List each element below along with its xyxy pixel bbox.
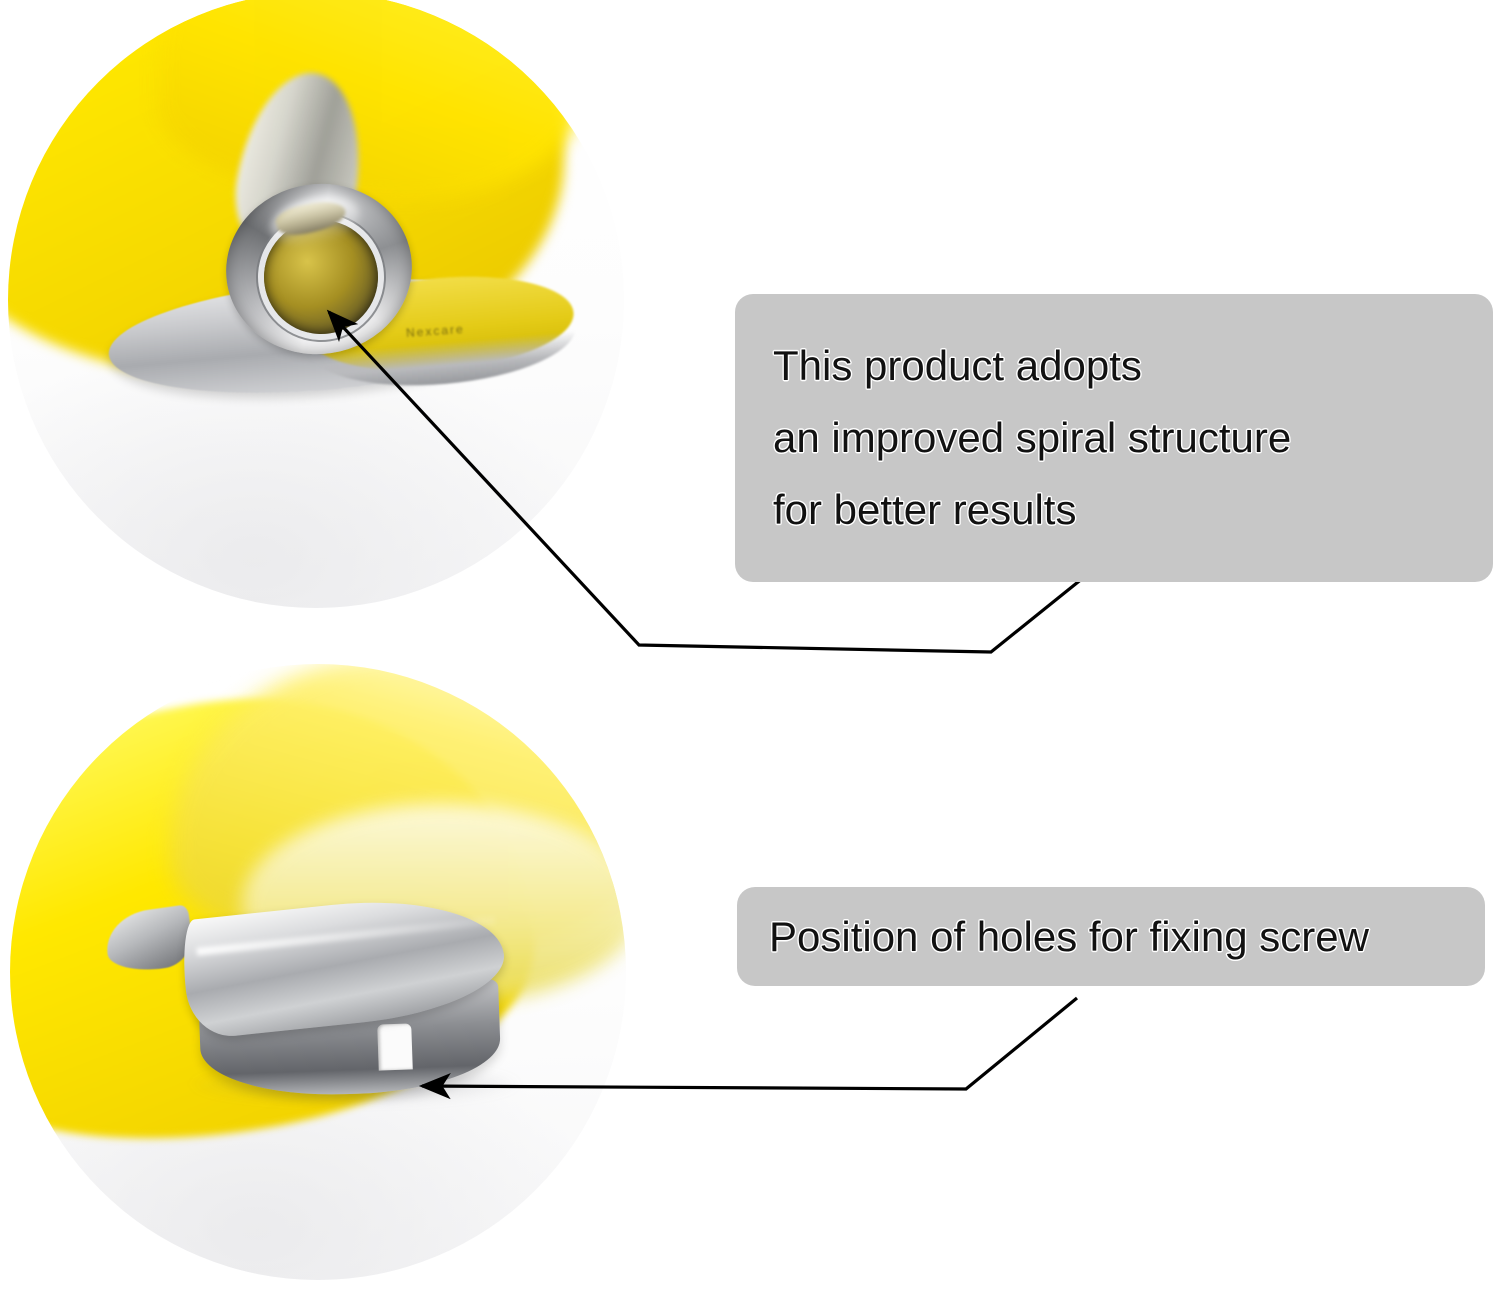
spiral-structure-callout[interactable]: This product adopts an improved spiral s…	[735, 294, 1493, 582]
photo-top-content: Nexcare	[8, 0, 624, 608]
callout-bottom-line-1: Position of holes for fixing screw	[769, 887, 1485, 986]
callout-top-line-2: an improved spiral structure	[773, 402, 1493, 474]
fixing-screw-callout[interactable]: Position of holes for fixing screw	[737, 887, 1485, 986]
screw-hole-notch	[377, 1023, 413, 1070]
photo-bottom-content	[10, 664, 626, 1280]
spiral-structure-photo: Nexcare	[8, 0, 624, 608]
infographic-stage: Nexcare	[0, 0, 1500, 1314]
callout-top-line-3: for better results	[773, 474, 1493, 546]
fixing-screw-holes-photo	[10, 664, 626, 1280]
callout-top-line-1: This product adopts	[773, 330, 1493, 402]
